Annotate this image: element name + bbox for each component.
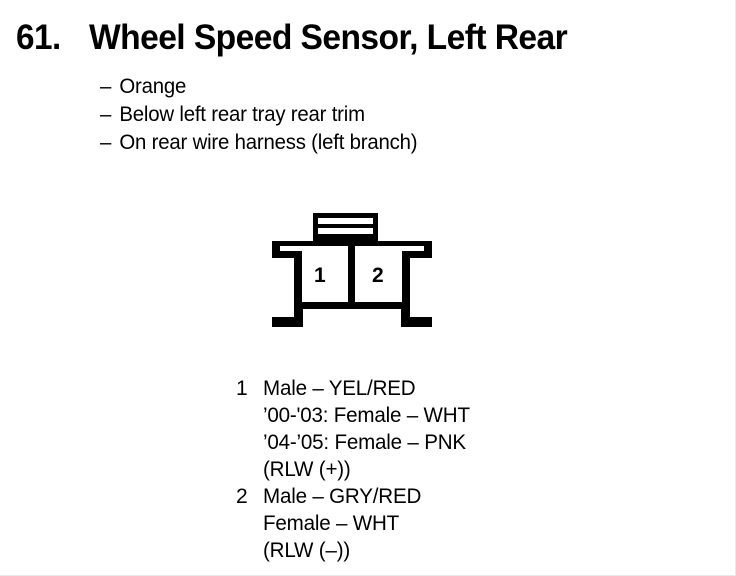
pin-number-2: 2: [372, 265, 384, 286]
pin-divider: [348, 241, 355, 309]
pin-number-1: 1: [314, 265, 326, 286]
latch-slot-upper: [318, 218, 373, 224]
note-item: –On rear wire harness (left branch): [100, 129, 643, 157]
item-title: Wheel Speed Sensor, Left Rear: [89, 20, 567, 55]
latch-tab-icon: [313, 213, 378, 241]
note-text: Orange: [119, 75, 186, 98]
note-text: On rear wire harness (left branch): [119, 131, 417, 154]
note-item: –Orange: [100, 73, 643, 101]
page-title: 61. Wheel Speed Sensor, Left Rear: [16, 20, 716, 55]
legend-row: 1 Male – YEL/RED ’00-'03: Female – WHT ’…: [236, 375, 656, 483]
latch-slot-lower: [318, 228, 373, 234]
legend-line: (RLW (–)): [263, 537, 648, 564]
document-page: 61. Wheel Speed Sensor, Left Rear –Orang…: [0, 0, 736, 576]
legend-line: Male – GRY/RED: [263, 483, 648, 510]
connector-drawing: [262, 205, 442, 335]
connector-diagram: 1 2: [262, 205, 442, 335]
legend-line: (RLW (+)): [263, 456, 648, 483]
dash-icon: –: [100, 101, 119, 129]
legend-row: 2 Male – GRY/RED Female – WHT (RLW (–)): [236, 483, 656, 564]
dash-icon: –: [100, 129, 119, 157]
note-text: Below left rear tray rear trim: [119, 103, 364, 126]
legend-line: ’00-'03: Female – WHT: [263, 402, 648, 429]
note-list: –Orange –Below left rear tray rear trim …: [100, 73, 660, 157]
legend-pin-number: 2: [236, 483, 263, 510]
note-item: –Below left rear tray rear trim: [100, 101, 643, 129]
pin-legend: 1 Male – YEL/RED ’00-'03: Female – WHT ’…: [236, 375, 656, 564]
legend-pin-number: 1: [236, 375, 263, 402]
legend-line: Female – WHT: [263, 510, 648, 537]
legend-line: ’04-’05: Female – PNK: [263, 429, 648, 456]
legend-group-pin-1: 1 Male – YEL/RED ’00-'03: Female – WHT ’…: [236, 375, 656, 483]
legend-line-stack: Male – GRY/RED Female – WHT (RLW (–)): [263, 483, 656, 564]
dash-icon: –: [100, 73, 119, 101]
legend-group-pin-2: 2 Male – GRY/RED Female – WHT (RLW (–)): [236, 483, 656, 564]
item-number: 61.: [16, 20, 61, 55]
legend-line-stack: Male – YEL/RED ’00-'03: Female – WHT ’04…: [263, 375, 656, 483]
legend-line: Male – YEL/RED: [263, 375, 648, 402]
